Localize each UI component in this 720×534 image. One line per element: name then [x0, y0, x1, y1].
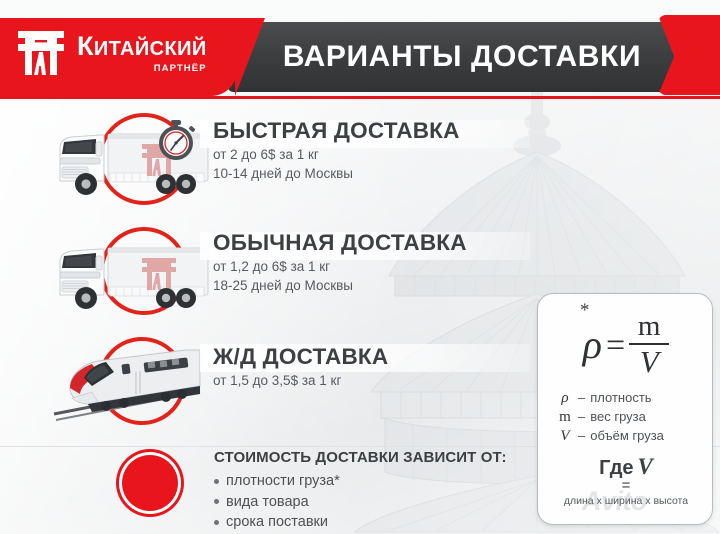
formula-equals: = [606, 329, 625, 363]
cost-factor-1: плотности груза* [226, 471, 340, 492]
cost-factors-block: СТОИМОСТЬ ДОСТАВКИ ЗАВИСИТ ОТ: плотности… [214, 449, 464, 533]
legend-text-m: вес груза [590, 409, 646, 424]
option-1-text: БЫСТРАЯ ДОСТАВКА от 2 до 6$ за 1 кг 10-1… [213, 119, 460, 181]
cost-factors-title: СТОИМОСТЬ ДОСТАВКИ ЗАВИСИТ ОТ: [214, 449, 464, 466]
formula-rho: ρ [583, 325, 602, 365]
page-title: ВАРИАНТЫ ДОСТАВКИ [252, 30, 672, 84]
brand-logo-text: КИТАЙСКИЙ ПАРТНЁР [77, 33, 207, 74]
header-top-strip [0, 0, 720, 18]
brand-name-rest: ИТАЙСКИЙ [94, 38, 207, 60]
option-2-price: от 1,2 до 6$ за 1 кг [213, 259, 467, 274]
brand-logo[interactable]: КИТАЙСКИЙ ПАРТНЁР [14, 26, 207, 80]
chinese-gate-logo-icon [14, 26, 68, 80]
legend-symbol-v: V [552, 428, 578, 445]
bullet-icon [214, 479, 219, 484]
formula-denominator: V [640, 346, 659, 379]
option-3-title: Ж/Д ДОСТАВКА [213, 345, 388, 369]
train-icon [48, 342, 208, 424]
list-item: срока поставки [214, 512, 464, 533]
option-1-title: БЫСТРАЯ ДОСТАВКА [213, 119, 460, 143]
header-red-rule [0, 96, 720, 99]
cost-factor-2: вида товара [226, 492, 309, 513]
truck-icon [46, 232, 214, 316]
delivery-options-poster: ВАРИАНТЫ ДОСТАВКИ КИТАЙСКИЙ ПАРТНЁР [0, 0, 720, 534]
legend-dash-1: – [578, 390, 585, 405]
option-2-term: 18-25 дней до Москвы [213, 278, 467, 293]
option-2-title: ОБЫЧНАЯ ДОСТАВКА [213, 231, 467, 255]
option-1-price: от 2 до 6$ за 1 кг [213, 147, 460, 162]
bullet-icon [214, 499, 219, 504]
brand-subtitle: ПАРТНЁР [154, 63, 207, 74]
avito-watermark: Avito [582, 486, 647, 517]
option-3-price: от 1,5 до 3,5$ за 1 кг [213, 373, 388, 388]
brand-name: КИТАЙСКИЙ [77, 33, 207, 60]
legend-row-m: m – вес груза [552, 409, 704, 426]
formula-expression: ρ = m V [538, 312, 714, 379]
legend-dash-3: – [578, 428, 585, 443]
formula-numerator: m [638, 312, 661, 342]
cost-factors-list: плотности груза* вида товара срока поста… [214, 471, 464, 533]
bullet-icon [214, 520, 219, 525]
legend-row-v: V – объём груза [552, 428, 704, 445]
cost-factor-3: срока поставки [226, 512, 328, 533]
legend-text-v: объём груза [590, 428, 664, 443]
legend-row-rho: ρ – плотность [552, 390, 704, 407]
exclamation-mark-icon [122, 455, 178, 511]
list-item: плотности груза* [214, 471, 464, 492]
where-symbol-v: V [638, 454, 653, 480]
legend-symbol-rho: ρ [552, 390, 578, 407]
truck-with-stopwatch-icon [46, 118, 214, 202]
legend-text-rho: плотность [590, 390, 651, 405]
option-2-text: ОБЫЧНАЯ ДОСТАВКА от 1,2 до 6$ за 1 кг 18… [213, 231, 467, 293]
option-3-text: Ж/Д ДОСТАВКА от 1,5 до 3,5$ за 1 кг [213, 345, 388, 388]
legend-symbol-m: m [552, 409, 578, 426]
legend-dash-2: – [578, 409, 585, 424]
list-item: вида товара [214, 492, 464, 513]
header: ВАРИАНТЫ ДОСТАВКИ КИТАЙСКИЙ ПАРТНЁР [0, 0, 720, 100]
brand-name-capital: К [77, 31, 94, 61]
formula-legend: ρ – плотность m – вес груза V – объём гр… [552, 390, 704, 447]
formula-fraction: m V [629, 312, 669, 379]
option-1-term: 10-14 дней до Москвы [213, 166, 460, 181]
